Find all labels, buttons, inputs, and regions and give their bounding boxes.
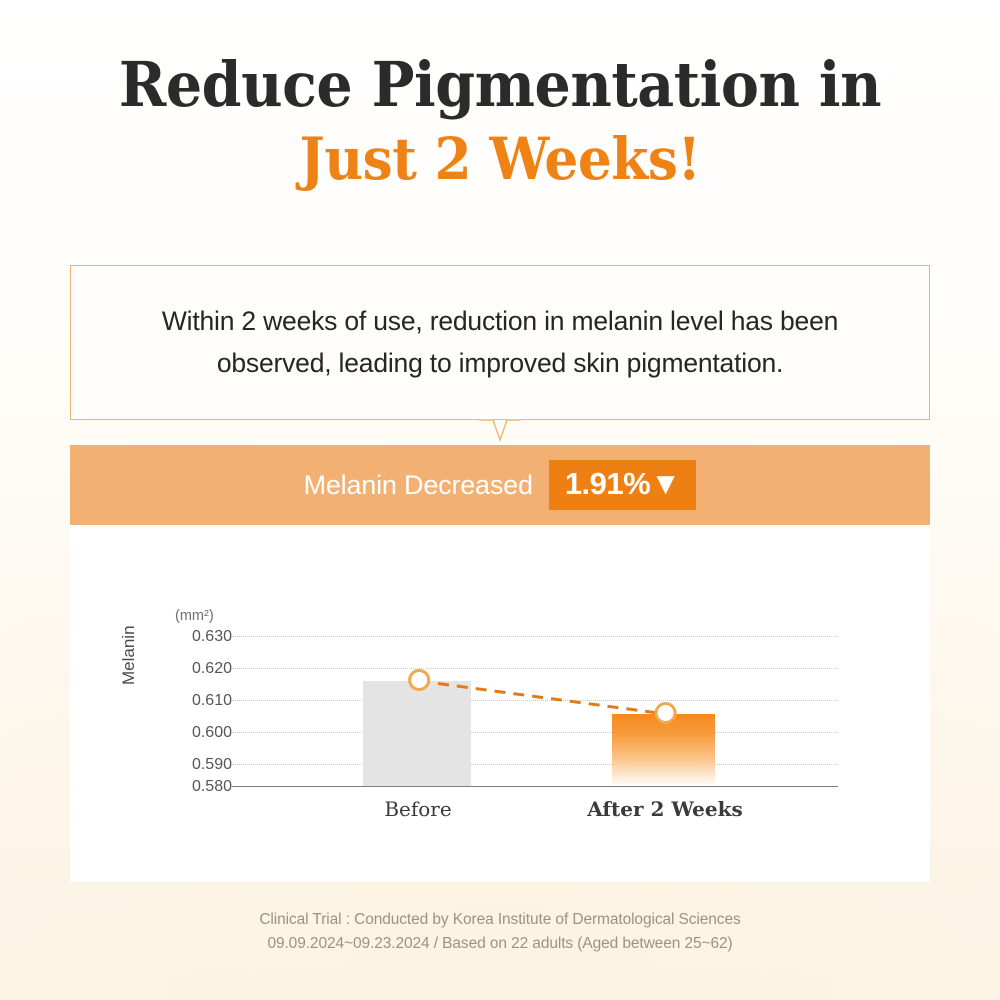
y-tick: 0.590 bbox=[174, 756, 232, 774]
footnote-line-1: Clinical Trial : Conducted by Korea Inst… bbox=[0, 908, 1000, 932]
y-tick: 0.630 bbox=[174, 628, 232, 646]
x-axis-line bbox=[232, 786, 838, 787]
bar-before bbox=[363, 681, 471, 786]
callout-notch-icon bbox=[479, 419, 521, 443]
y-tick: 0.620 bbox=[174, 660, 232, 678]
gridline bbox=[232, 668, 838, 669]
chart-card: Melanin Decreased 1.91%▼ (mm²) Melanin 0… bbox=[70, 445, 930, 882]
gridline bbox=[232, 764, 838, 765]
gridline bbox=[232, 636, 838, 637]
description-callout: Within 2 weeks of use, reduction in mela… bbox=[70, 265, 930, 420]
x-label-before: Before bbox=[323, 797, 513, 821]
y-axis-ticks: 0.630 0.620 0.610 0.600 0.590 0.580 bbox=[174, 525, 232, 882]
banner-label: Melanin Decreased bbox=[304, 470, 533, 501]
y-axis-title: Melanin bbox=[119, 625, 139, 685]
y-tick: 0.580 bbox=[174, 778, 232, 796]
bar-after bbox=[612, 714, 715, 786]
headline-line-2: Just 2 Weeks! bbox=[40, 129, 960, 190]
x-label-after: After 2 Weeks bbox=[565, 797, 765, 821]
gridline bbox=[232, 732, 838, 733]
y-tick: 0.610 bbox=[174, 692, 232, 710]
clinical-trial-footnote: Clinical Trial : Conducted by Korea Inst… bbox=[0, 908, 1000, 956]
page-title: Reduce Pigmentation in Just 2 Weeks! bbox=[0, 52, 1000, 190]
y-tick: 0.600 bbox=[174, 724, 232, 742]
melanin-decreased-banner: Melanin Decreased 1.91%▼ bbox=[70, 445, 930, 525]
footnote-line-2: 09.09.2024~09.23.2024 / Based on 22 adul… bbox=[0, 932, 1000, 956]
chart-plot-area: (mm²) Melanin 0.630 0.620 0.610 0.600 0.… bbox=[70, 525, 930, 882]
decrease-badge: 1.91%▼ bbox=[549, 460, 697, 510]
gridline bbox=[232, 700, 838, 701]
description-text: Within 2 weeks of use, reduction in mela… bbox=[71, 301, 929, 383]
headline-line-1: Reduce Pigmentation in bbox=[40, 52, 960, 117]
